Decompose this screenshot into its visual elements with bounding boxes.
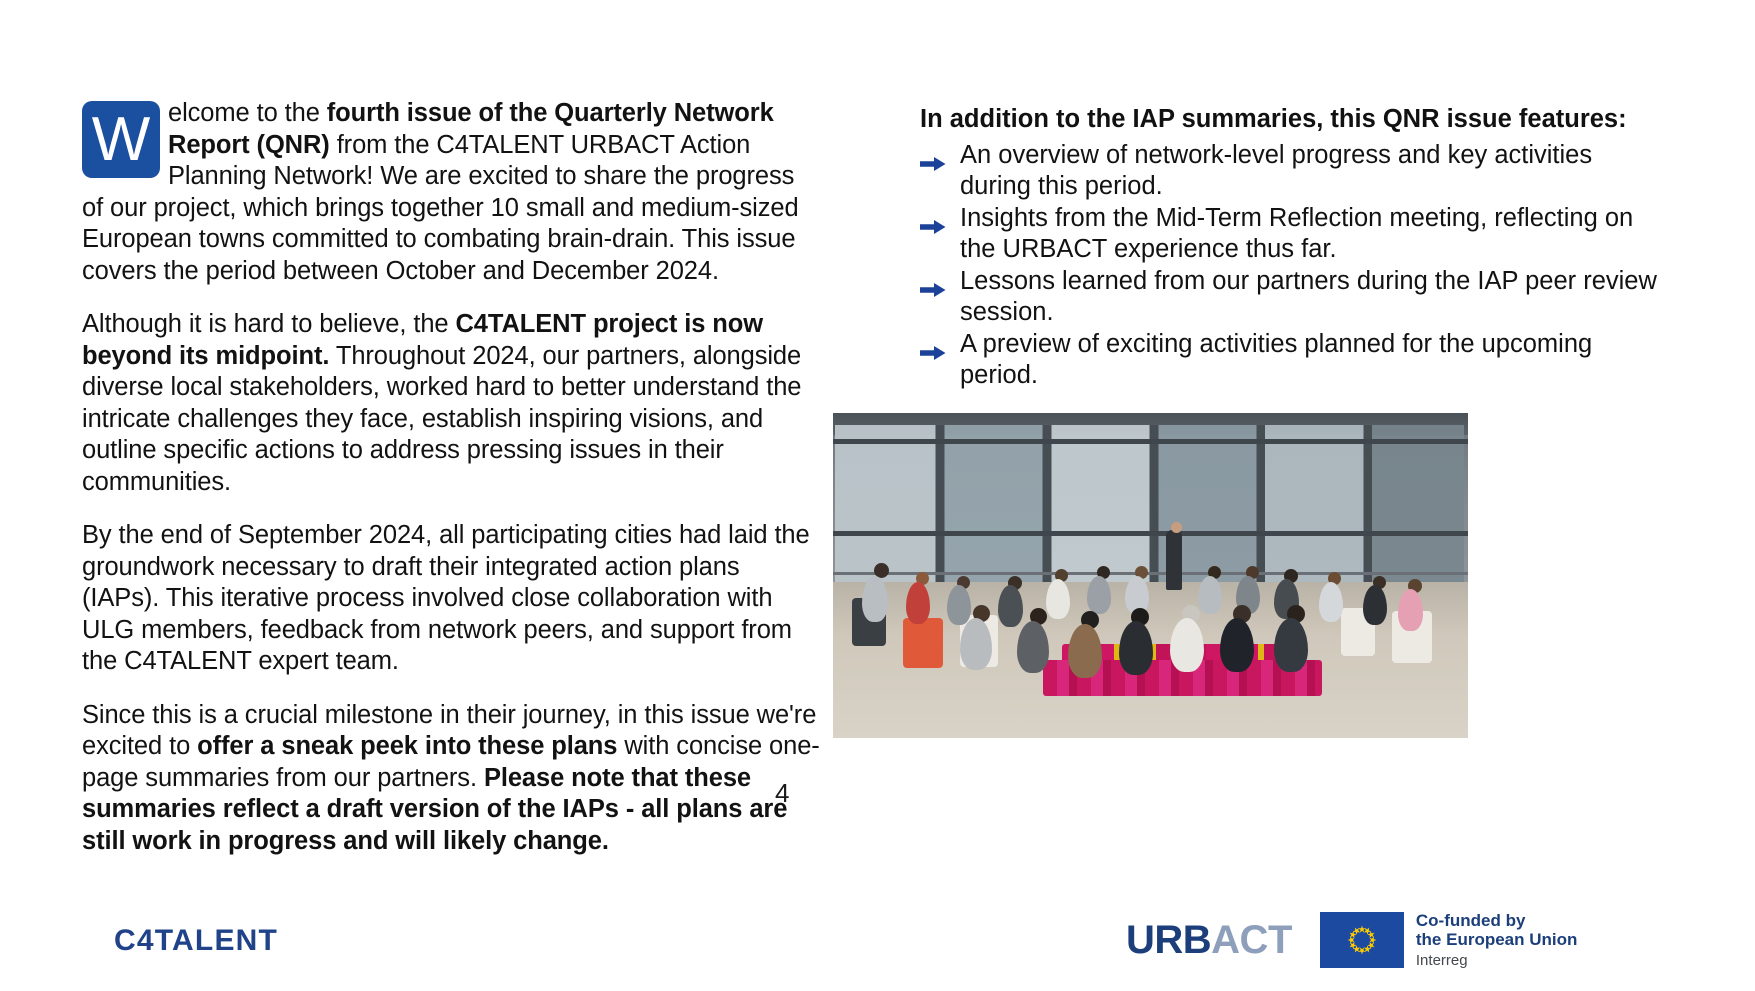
urbact-logo-part2: ACT (1211, 918, 1292, 962)
list-item: Insights from the Mid-Term Reflection me… (920, 203, 1665, 266)
eu-line-3: Interreg (1416, 952, 1578, 969)
eu-cofunding-text: Co-funded by the European Union Interreg (1416, 911, 1578, 970)
features-heading: In addition to the IAP summaries, this Q… (920, 104, 1665, 136)
left-text-column: W elcome to the fourth issue of the Quar… (82, 98, 820, 857)
paragraph-intro-text: elcome to the fourth issue of the Quarte… (82, 99, 799, 285)
footer-logos: URBACT (1126, 908, 1577, 972)
arrow-right-icon (920, 149, 946, 165)
paragraph-midpoint: Although it is hard to believe, the C4TA… (82, 309, 820, 498)
eu-flag-icon (1320, 912, 1404, 968)
list-item-label: A preview of exciting activities planned… (960, 330, 1592, 390)
features-list: An overview of network-level progress an… (920, 140, 1665, 392)
list-item-label: An overview of network-level progress an… (960, 141, 1592, 201)
urbact-logo: URBACT (1126, 920, 1292, 960)
run: elcome to the (168, 99, 327, 127)
c4talent-logo: C4TALENT (114, 924, 278, 958)
urbact-logo-part1: URB (1126, 918, 1211, 962)
eu-line-1: Co-funded by (1416, 911, 1578, 931)
page-number: 4 (775, 778, 789, 809)
workshop-photo (833, 413, 1468, 738)
list-item: An overview of network-level progress an… (920, 140, 1665, 203)
run: Although it is hard to believe, the (82, 310, 455, 338)
list-item-label: Insights from the Mid-Term Reflection me… (960, 204, 1633, 264)
right-text-column: In addition to the IAP summaries, this Q… (920, 104, 1665, 392)
arrow-right-icon (920, 275, 946, 291)
paragraph-sneak-peek: Since this is a crucial milestone in the… (82, 700, 820, 858)
document-page: W elcome to the fourth issue of the Quar… (0, 0, 1755, 991)
eu-line-2: the European Union (1416, 930, 1578, 950)
arrow-right-icon (920, 212, 946, 228)
paragraph-groundwork: By the end of September 2024, all partic… (82, 520, 820, 678)
list-item: Lessons learned from our partners during… (920, 266, 1665, 329)
run-bold: offer a sneak peek into these plans (197, 732, 617, 760)
drop-cap-letter: W (82, 101, 160, 178)
list-item: A preview of exciting activities planned… (920, 329, 1665, 392)
paragraph-intro: W elcome to the fourth issue of the Quar… (82, 98, 820, 287)
run: By the end of September 2024, all partic… (82, 521, 810, 675)
eu-cofunding-logo: Co-funded by the European Union Interreg (1320, 911, 1578, 970)
list-item-label: Lessons learned from our partners during… (960, 267, 1657, 327)
arrow-right-icon (920, 338, 946, 354)
